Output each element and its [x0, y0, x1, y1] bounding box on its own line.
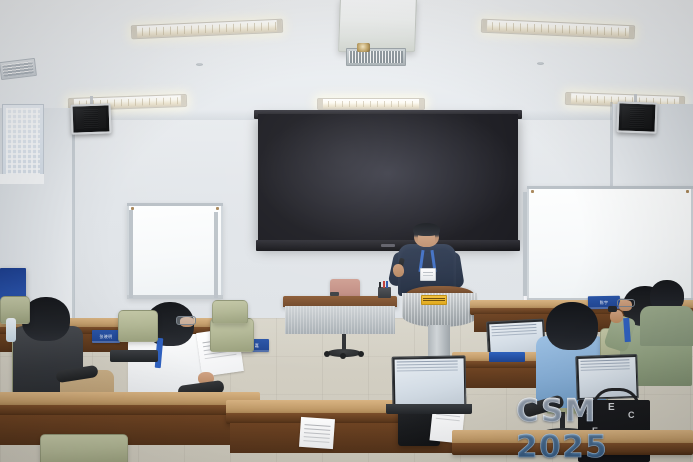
printed-handout — [299, 417, 335, 449]
wall-corner-left — [72, 106, 75, 328]
desk-item — [330, 292, 339, 296]
laptop-base[interactable] — [386, 404, 472, 414]
left-window-sill — [0, 174, 44, 184]
projector-lens — [357, 43, 370, 52]
instructor-chair-base — [327, 349, 361, 357]
wristwatch — [608, 306, 617, 312]
projector-vent-grille — [346, 48, 406, 66]
presenter-hair — [413, 223, 440, 236]
whiteboard-stand-right — [214, 212, 218, 298]
water-bottle — [6, 318, 16, 342]
podium-stem — [428, 325, 450, 359]
keyboard — [110, 350, 158, 362]
attendee-blue-top-head — [546, 302, 598, 350]
eyeglasses-icon — [176, 316, 196, 325]
watermark: CSM 2025 — [516, 408, 686, 450]
chair — [212, 300, 248, 324]
smoke-detector — [196, 63, 203, 66]
watermark-text: CSM 2025 — [516, 393, 686, 462]
wall-speaker-right — [616, 101, 657, 133]
podium-warning-label — [421, 295, 447, 305]
classroom-presentation-photo: Peiyang Chen Thompson Sampling for Onlin… — [0, 0, 693, 462]
name-tent-text: 陈宇 — [600, 299, 609, 305]
presenter-badge — [420, 268, 436, 281]
name-tent-text: 张晓明 — [100, 334, 113, 340]
chair — [118, 310, 158, 342]
left-window-blind — [2, 104, 44, 178]
pen-holder — [378, 287, 391, 298]
wall-speaker-left — [70, 103, 111, 134]
whiteboard-left — [127, 203, 223, 299]
eyeglasses-icon — [617, 299, 635, 307]
whiteboard-stand-left — [129, 210, 133, 298]
projection-screen-bottom-bar — [256, 240, 520, 251]
pen — [386, 281, 388, 288]
ceiling-projector — [338, 0, 417, 52]
projection-screen: Peiyang Chen Thompson Sampling for Onlin… — [258, 114, 518, 246]
desk-row-front-left-top — [0, 392, 260, 406]
instructor-desk-front-panel — [285, 306, 395, 334]
chair — [40, 434, 128, 462]
name-tent-card: 张晓明 — [92, 330, 120, 343]
attendee-back-right-body — [640, 306, 693, 346]
desk-row-front-left-panel — [0, 415, 256, 445]
smoke-detector — [537, 62, 544, 65]
laptop-screen[interactable] — [392, 355, 467, 408]
whiteboard-right-stand — [523, 192, 527, 296]
fluorescent-light-fixture — [317, 98, 425, 110]
blue-folder — [489, 352, 525, 362]
